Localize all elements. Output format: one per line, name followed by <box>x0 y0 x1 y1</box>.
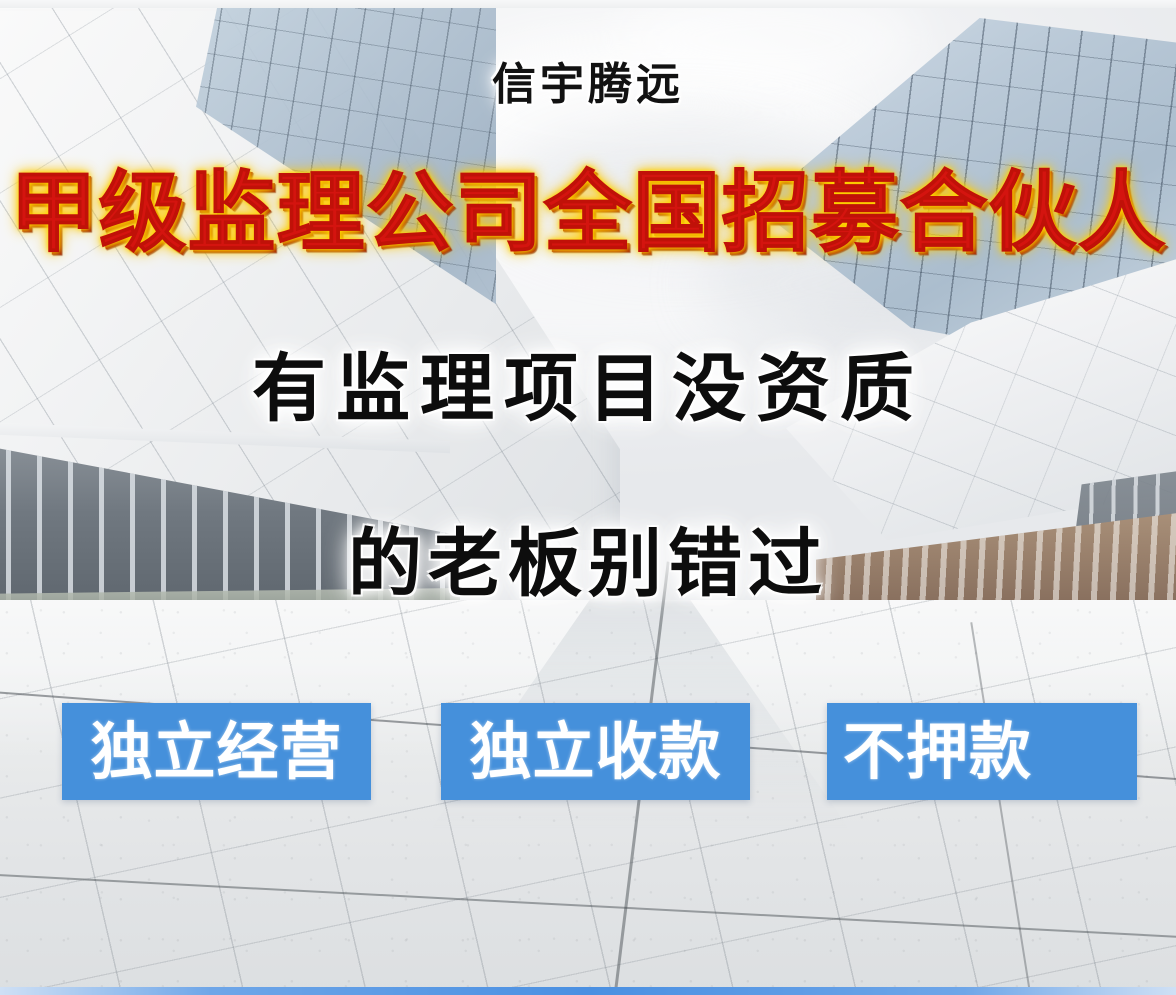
feature-badge-no-deposit: 不押款 <box>827 703 1137 800</box>
subheadline-line-1: 有监理项目没资质 <box>0 352 1176 426</box>
headline-text: 甲级监理公司全国招募合伙人 <box>0 168 1176 256</box>
feature-badge-label: 独立收款 <box>469 721 721 783</box>
bottom-accent-bar <box>0 987 1176 995</box>
promotional-poster: 信宇腾远 甲级监理公司全国招募合伙人 有监理项目没资质 的老板别错过 独立经营 … <box>0 0 1176 995</box>
feature-badge-independent-operation: 独立经营 <box>62 703 371 800</box>
top-edge-strip <box>0 0 1176 8</box>
feature-badge-independent-collection: 独立收款 <box>441 703 750 800</box>
subheadline-line-2: 的老板别错过 <box>0 527 1176 601</box>
brand-name: 信宇腾远 <box>0 48 1176 112</box>
feature-badge-label: 不押款 <box>843 721 1032 783</box>
background-photo <box>0 0 1176 995</box>
feature-badge-label: 独立经营 <box>90 721 342 783</box>
